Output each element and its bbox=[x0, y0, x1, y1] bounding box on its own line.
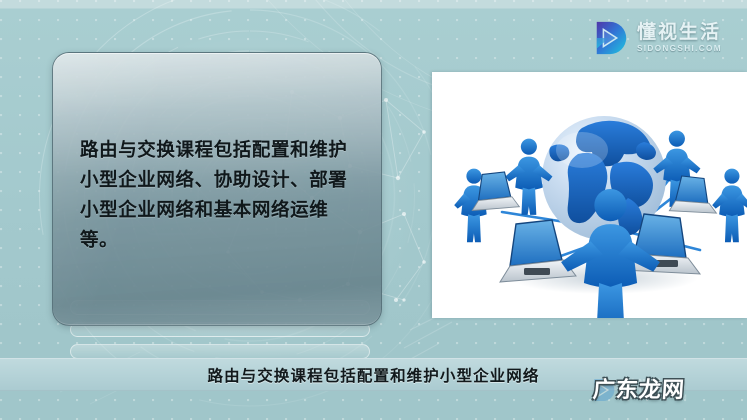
brand-name-cn: 懂视生活 bbox=[637, 23, 722, 42]
panel-body-text: 路由与交换课程包括配置和维护小型企业网络、协助设计、部署小型企业网络和基本网络运… bbox=[80, 135, 363, 255]
network-illustration bbox=[432, 72, 747, 318]
content-panel: 路由与交换课程包括配置和维护小型企业网络、协助设计、部署小型企业网络和基本网络运… bbox=[52, 52, 382, 326]
caption-text: 路由与交换课程包括配置和维护小型企业网络 bbox=[207, 364, 539, 386]
watermark: 懂视生活 SIDONGSHI.COM 广东龙网 bbox=[587, 362, 739, 416]
brand-name-en: SIDONGSHI.COM bbox=[637, 45, 722, 53]
brand-logo: 懂视生活 SIDONGSHI.COM bbox=[592, 16, 734, 60]
slide-stage: 路由与交换课程包括配置和维护小型企业网络、协助设计、部署小型企业网络和基本网络运… bbox=[0, 0, 747, 420]
network-illustration-graphic bbox=[432, 72, 747, 318]
d-logo-icon bbox=[592, 19, 630, 57]
brand-wordmark: 懂视生活 SIDONGSHI.COM bbox=[637, 23, 722, 53]
watermark-text: 广东龙网 bbox=[592, 372, 686, 404]
